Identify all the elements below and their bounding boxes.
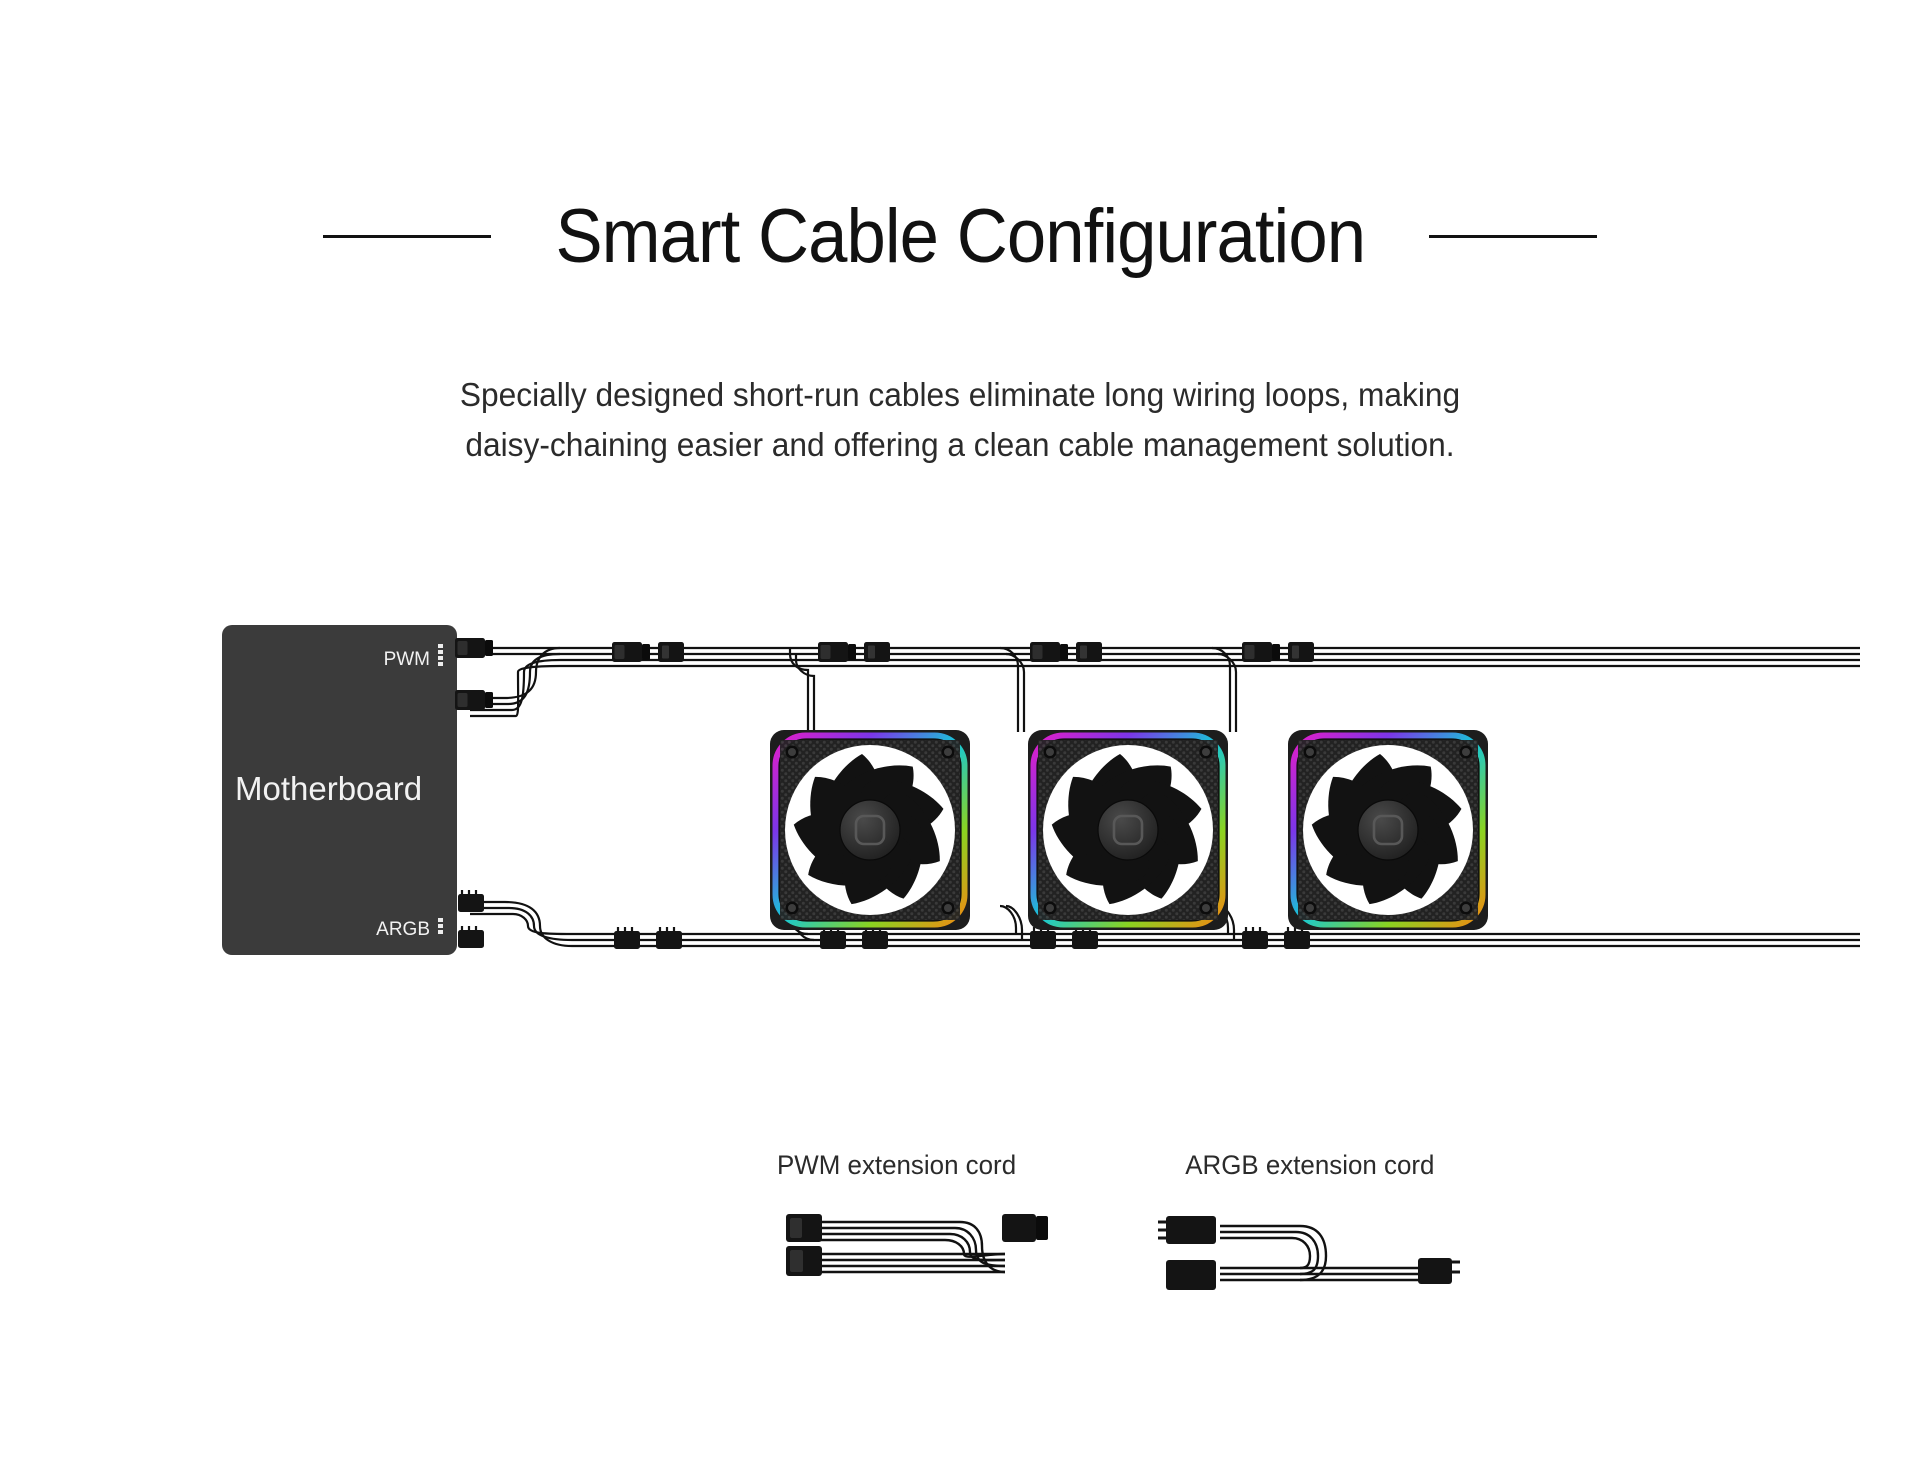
pwm-extension-cord-illustration: [786, 1214, 1048, 1276]
page-subtitle: Specially designed short-run cables elim…: [38, 370, 1881, 470]
title-rule-left: [323, 235, 491, 238]
subtitle-line-2: daisy-chaining easier and offering a cle…: [38, 420, 1881, 470]
fan-1: [770, 730, 970, 930]
page-title: Smart Cable Configuration: [555, 199, 1365, 275]
pwm-header-label: PWM: [384, 649, 430, 670]
argb-header-pins: [438, 918, 443, 934]
header-section: Smart Cable Configuration Specially desi…: [0, 0, 1920, 470]
fan-2: [1028, 730, 1228, 930]
legend-section: PWM extension cord ARGB extension cord: [0, 1150, 1920, 1340]
motherboard-label: Motherboard: [235, 770, 422, 807]
pwm-cord-legend-label: PWM extension cord: [777, 1150, 1016, 1181]
cable-configuration-diagram: Motherboard PWM ARGB: [0, 620, 1920, 1090]
motherboard: Motherboard PWM ARGB: [222, 625, 457, 955]
fan-3: [1288, 730, 1488, 930]
argb-header-label: ARGB: [376, 919, 430, 940]
subtitle-line-1: Specially designed short-run cables elim…: [38, 370, 1881, 420]
title-rule-right: [1429, 235, 1597, 238]
argb-cord-legend-label: ARGB extension cord: [1185, 1150, 1434, 1181]
argb-extension-cord-illustration: [1158, 1216, 1460, 1290]
title-row: Smart Cable Configuration: [0, 148, 1920, 326]
